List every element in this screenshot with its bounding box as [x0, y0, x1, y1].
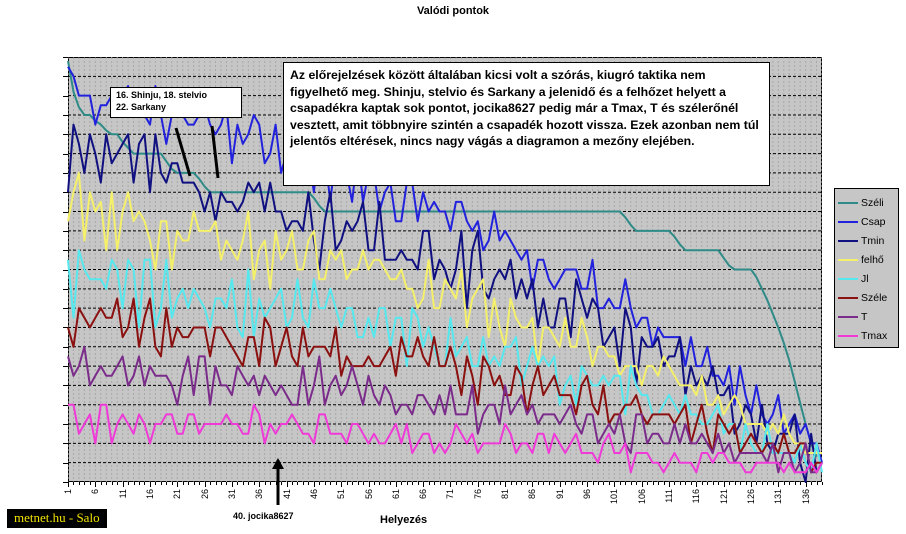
x-tick-mark — [123, 482, 124, 487]
x-tick-mark-minor — [664, 482, 665, 485]
x-tick-mark-minor — [658, 482, 659, 485]
x-tick-label: 136 — [801, 489, 811, 504]
x-tick-mark-minor — [456, 482, 457, 485]
x-tick-label: 76 — [473, 489, 483, 499]
x-tick-mark-minor — [680, 482, 681, 485]
x-tick-mark — [287, 482, 288, 487]
x-tick-label: 16 — [145, 489, 155, 499]
x-tick-mark — [205, 482, 206, 487]
legend-swatch-icon — [838, 202, 858, 204]
x-tick-mark-minor — [297, 482, 298, 485]
x-tick-label: 111 — [664, 489, 674, 503]
x-tick-mark-minor — [194, 482, 195, 485]
legend-item-széli[interactable]: Széli — [835, 193, 898, 212]
chart-legend: SzéliCsapTminfelhőJlSzéleTTmax — [834, 188, 899, 348]
x-tick-mark — [396, 482, 397, 487]
x-tick-mark-minor — [90, 482, 91, 485]
legend-item-jl[interactable]: Jl — [835, 269, 898, 288]
x-tick-mark-minor — [756, 482, 757, 485]
x-tick-label: 21 — [172, 489, 182, 499]
x-tick-mark-minor — [500, 482, 501, 485]
x-tick-mark — [806, 482, 807, 487]
x-tick-mark-minor — [166, 482, 167, 485]
x-tick-mark-minor — [330, 482, 331, 485]
x-tick-mark-minor — [418, 482, 419, 485]
legend-swatch-icon — [838, 240, 858, 242]
x-tick-mark-minor — [811, 482, 812, 485]
main-annotation-box: Az előrejelzések között általában kicsi … — [283, 62, 770, 186]
legend-item-t[interactable]: T — [835, 307, 898, 326]
x-tick-mark-minor — [609, 482, 610, 485]
x-tick-label: 131 — [773, 489, 783, 504]
x-tick-mark — [314, 482, 315, 487]
legend-label: Széle — [861, 292, 887, 304]
x-tick-mark-minor — [472, 482, 473, 485]
legend-item-csap[interactable]: Csap — [835, 212, 898, 231]
x-tick-mark-minor — [183, 482, 184, 485]
x-tick-label: 71 — [445, 489, 455, 499]
x-tick-mark-minor — [620, 482, 621, 485]
x-tick-mark-minor — [527, 482, 528, 485]
x-tick-label: 116 — [691, 489, 701, 503]
x-tick-mark — [150, 482, 151, 487]
x-tick-mark-minor — [631, 482, 632, 485]
x-tick-mark-minor — [155, 482, 156, 485]
rank-annotation-line2: 22. Sarkany — [116, 102, 237, 114]
x-tick-mark-minor — [352, 482, 353, 485]
x-tick-mark — [423, 482, 424, 487]
rank-annotation-line1: 16. Shinju, 18. stelvio — [116, 90, 237, 102]
x-tick-mark-minor — [216, 482, 217, 485]
x-tick-mark-minor — [543, 482, 544, 485]
x-tick-mark-minor — [84, 482, 85, 485]
x-tick-mark-minor — [112, 482, 113, 485]
x-tick-mark-minor — [303, 482, 304, 485]
x-tick-mark-minor — [106, 482, 107, 485]
x-tick-mark-minor — [412, 482, 413, 485]
legend-label: Széli — [861, 197, 884, 209]
x-tick-mark-minor — [789, 482, 790, 485]
x-tick-mark-minor — [461, 482, 462, 485]
x-tick-mark-minor — [221, 482, 222, 485]
x-tick-mark-minor — [702, 482, 703, 485]
x-tick-mark-minor — [407, 482, 408, 485]
x-tick-mark-minor — [489, 482, 490, 485]
x-tick-mark-minor — [554, 482, 555, 485]
chart-page: Valódi pontok 01234567891011121314151617… — [0, 0, 906, 534]
x-tick-mark-minor — [101, 482, 102, 485]
x-tick-label: 96 — [582, 489, 592, 499]
x-tick-mark — [95, 482, 96, 487]
x-tick-mark-minor — [746, 482, 747, 485]
x-tick-label: 41 — [282, 489, 292, 499]
x-tick-mark-minor — [434, 482, 435, 485]
x-tick-mark-minor — [467, 482, 468, 485]
x-tick-mark-minor — [729, 482, 730, 485]
x-tick-mark-minor — [653, 482, 654, 485]
x-tick-mark-minor — [243, 482, 244, 485]
x-tick-mark — [177, 482, 178, 487]
x-tick-mark-minor — [374, 482, 375, 485]
x-tick-mark-minor — [390, 482, 391, 485]
x-tick-mark-minor — [576, 482, 577, 485]
x-tick-mark — [751, 482, 752, 487]
x-tick-label: 61 — [391, 489, 401, 499]
legend-label: Jl — [861, 273, 869, 285]
x-tick-mark-minor — [117, 482, 118, 485]
x-tick-mark-minor — [822, 482, 823, 485]
x-tick-mark-minor — [767, 482, 768, 485]
x-axis-label: Helyezés — [380, 514, 427, 526]
x-tick-mark-minor — [134, 482, 135, 485]
x-tick-mark-minor — [625, 482, 626, 485]
x-tick-mark-minor — [210, 482, 211, 485]
x-tick-label: 126 — [746, 489, 756, 504]
x-tick-mark-minor — [511, 482, 512, 485]
x-tick-mark — [614, 482, 615, 487]
x-tick-mark-minor — [647, 482, 648, 485]
x-tick-mark-minor — [773, 482, 774, 485]
x-tick-mark — [505, 482, 506, 487]
legend-label: Tmin — [861, 235, 884, 247]
x-tick-mark-minor — [800, 482, 801, 485]
x-tick-mark-minor — [735, 482, 736, 485]
legend-swatch-icon — [838, 259, 858, 261]
legend-label: felhő — [861, 254, 884, 266]
x-tick-label: 26 — [200, 489, 210, 499]
x-tick-mark-minor — [276, 482, 277, 485]
x-tick-mark-minor — [281, 482, 282, 485]
x-tick-mark — [259, 482, 260, 487]
x-tick-label: 51 — [336, 489, 346, 499]
x-tick-mark-minor — [685, 482, 686, 485]
x-tick-mark — [341, 482, 342, 487]
x-tick-mark-minor — [795, 482, 796, 485]
x-tick-mark — [232, 482, 233, 487]
x-tick-mark-minor — [483, 482, 484, 485]
x-tick-label: 56 — [364, 489, 374, 499]
x-tick-label: 46 — [309, 489, 319, 499]
legend-item-felhő[interactable]: felhő — [835, 250, 898, 269]
x-tick-mark-minor — [817, 482, 818, 485]
legend-swatch-icon — [838, 278, 858, 280]
x-tick-mark-minor — [516, 482, 517, 485]
x-tick-mark — [450, 482, 451, 487]
x-tick-mark-minor — [707, 482, 708, 485]
x-tick-mark-minor — [538, 482, 539, 485]
legend-item-tmin[interactable]: Tmin — [835, 231, 898, 250]
x-tick-mark-minor — [79, 482, 80, 485]
x-tick-mark-minor — [308, 482, 309, 485]
x-tick-mark-minor — [401, 482, 402, 485]
x-tick-mark-minor — [636, 482, 637, 485]
x-tick-mark-minor — [565, 482, 566, 485]
x-tick-mark-minor — [571, 482, 572, 485]
legend-swatch-icon — [838, 297, 858, 299]
x-tick-mark-minor — [445, 482, 446, 485]
legend-label: T — [861, 311, 867, 323]
x-tick-label: 121 — [719, 489, 729, 504]
x-tick-mark — [778, 482, 779, 487]
x-tick-label: 66 — [418, 489, 428, 499]
x-tick-mark — [696, 482, 697, 487]
x-tick-mark-minor — [521, 482, 522, 485]
x-tick-mark-minor — [161, 482, 162, 485]
x-tick-mark-minor — [237, 482, 238, 485]
rank-annotation-box: 16. Shinju, 18. stelvio 22. Sarkany — [110, 87, 242, 118]
x-tick-mark-minor — [270, 482, 271, 485]
x-tick-mark-minor — [494, 482, 495, 485]
x-tick-mark-minor — [347, 482, 348, 485]
x-tick-mark — [724, 482, 725, 487]
x-tick-mark-minor — [549, 482, 550, 485]
x-tick-mark-minor — [784, 482, 785, 485]
watermark: metnet.hu - Salo — [7, 509, 107, 528]
x-tick-mark-minor — [713, 482, 714, 485]
x-tick-mark-minor — [254, 482, 255, 485]
x-tick-mark-minor — [674, 482, 675, 485]
x-tick-label: 11 — [118, 489, 128, 498]
x-tick-mark-minor — [172, 482, 173, 485]
x-tick-label: 36 — [254, 489, 264, 499]
x-tick-mark-minor — [379, 482, 380, 485]
x-tick-label: 101 — [609, 489, 619, 504]
x-tick-mark-minor — [718, 482, 719, 485]
x-tick-mark-minor — [363, 482, 364, 485]
x-tick-mark-minor — [603, 482, 604, 485]
x-tick-mark-minor — [73, 482, 74, 485]
x-tick-mark-minor — [358, 482, 359, 485]
x-tick-label: 6 — [90, 489, 100, 494]
x-tick-mark-minor — [598, 482, 599, 485]
x-tick-mark-minor — [582, 482, 583, 485]
x-tick-label: 86 — [527, 489, 537, 499]
x-tick-mark-minor — [440, 482, 441, 485]
x-tick-mark-minor — [144, 482, 145, 485]
x-tick-mark — [532, 482, 533, 487]
x-tick-mark-minor — [128, 482, 129, 485]
jocika-annotation-label: 40. jocika8627 — [233, 511, 294, 521]
x-tick-mark-minor — [248, 482, 249, 485]
x-tick-mark — [68, 482, 69, 487]
x-tick-mark-minor — [385, 482, 386, 485]
x-tick-label: 81 — [500, 489, 510, 499]
x-tick-mark — [478, 482, 479, 487]
x-tick-mark-minor — [762, 482, 763, 485]
x-tick-mark-minor — [691, 482, 692, 485]
x-tick-mark — [587, 482, 588, 487]
x-tick-mark-minor — [139, 482, 140, 485]
legend-label: Tmax — [861, 330, 887, 342]
x-tick-label: 91 — [555, 489, 565, 499]
x-tick-label: 106 — [637, 489, 647, 504]
legend-swatch-icon — [838, 221, 858, 223]
x-tick-mark-minor — [593, 482, 594, 485]
x-tick-mark-minor — [336, 482, 337, 485]
x-tick-mark-minor — [265, 482, 266, 485]
x-tick-mark-minor — [188, 482, 189, 485]
x-tick-mark-minor — [199, 482, 200, 485]
x-tick-mark-minor — [740, 482, 741, 485]
legend-swatch-icon — [838, 335, 858, 337]
x-tick-mark — [642, 482, 643, 487]
x-tick-mark-minor — [325, 482, 326, 485]
legend-swatch-icon — [838, 316, 858, 318]
x-tick-mark-minor — [226, 482, 227, 485]
x-tick-mark-minor — [319, 482, 320, 485]
legend-label: Csap — [861, 216, 886, 228]
x-tick-label: 31 — [227, 489, 237, 499]
x-tick-mark — [669, 482, 670, 487]
x-tick-mark — [369, 482, 370, 487]
x-tick-label: 1 — [63, 489, 73, 494]
x-tick-mark-minor — [292, 482, 293, 485]
legend-item-tmax[interactable]: Tmax — [835, 326, 898, 345]
x-tick-mark — [560, 482, 561, 487]
x-tick-mark-minor — [429, 482, 430, 485]
legend-item-széle[interactable]: Széle — [835, 288, 898, 307]
